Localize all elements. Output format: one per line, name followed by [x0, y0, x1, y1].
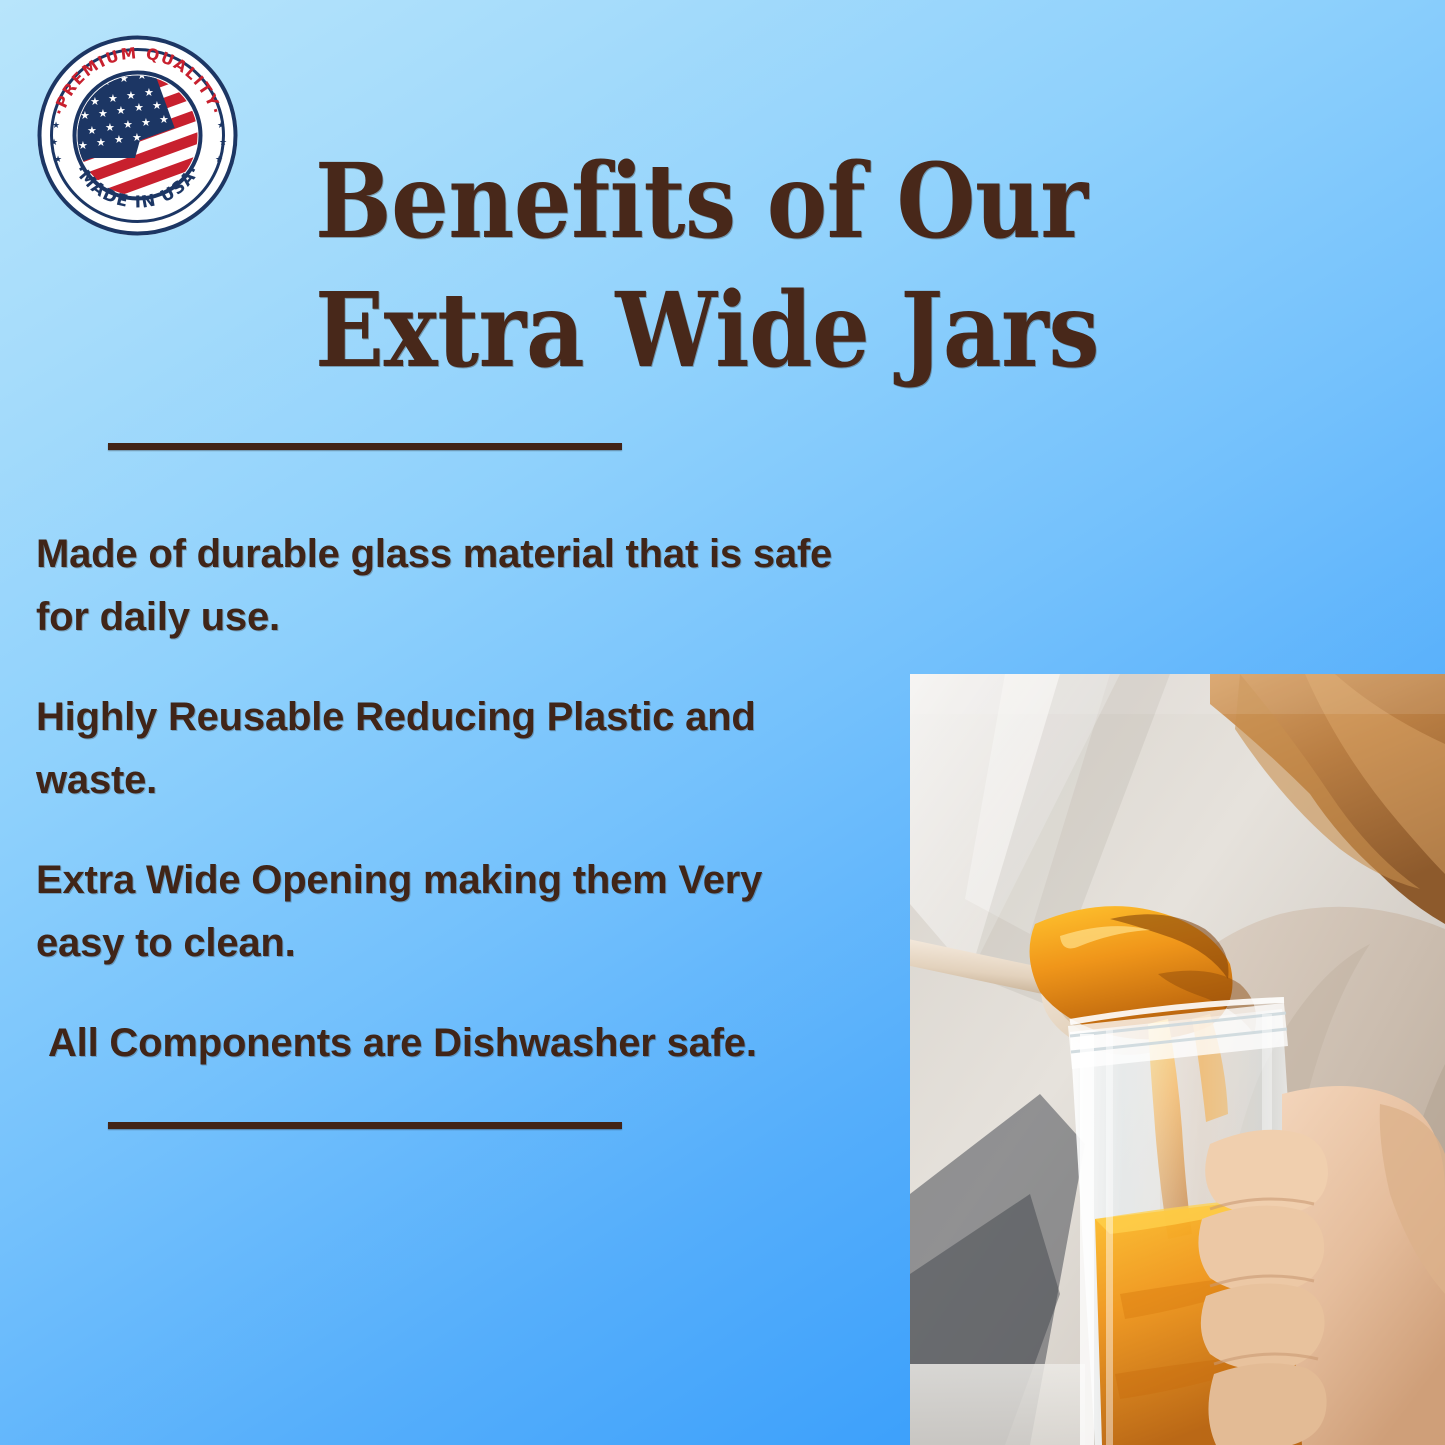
svg-text:★: ★ [54, 155, 62, 165]
svg-text:★: ★ [141, 116, 151, 129]
svg-text:★: ★ [98, 107, 108, 120]
svg-text:★: ★ [50, 138, 58, 148]
svg-text:★: ★ [215, 155, 223, 165]
divider-bottom [108, 1122, 622, 1129]
made-in-usa-badge: ★★★ ★★ ★★★ ★★ ★★★ ★★ ★★★ ★★ ★★★ ★ ·PREMI… [35, 33, 240, 238]
benefit-item-2: Highly Reusable Reducing Plastic and was… [36, 686, 916, 812]
divider-top [108, 443, 622, 450]
svg-text:★: ★ [78, 139, 88, 152]
svg-text:★: ★ [123, 118, 133, 131]
benefit-item-4: All Components are Dishwasher safe. [36, 1012, 916, 1075]
page-title: Benefits of Our Extra Wide Jars [315, 137, 1195, 395]
svg-text:★: ★ [114, 133, 124, 146]
lifestyle-photo [910, 674, 1445, 1445]
svg-text:★: ★ [162, 84, 172, 97]
benefit-item-1: Made of durable glass material that is s… [36, 523, 916, 649]
benefits-list: Made of durable glass material that is s… [36, 523, 916, 1075]
svg-text:★: ★ [144, 86, 154, 99]
svg-text:★: ★ [219, 138, 227, 148]
infographic-canvas: ★★★ ★★ ★★★ ★★ ★★★ ★★ ★★★ ★★ ★★★ ★ ·PREMI… [0, 0, 1445, 1445]
svg-text:★: ★ [217, 121, 225, 131]
svg-text:★: ★ [134, 101, 144, 114]
svg-text:★: ★ [116, 104, 126, 117]
svg-text:★: ★ [52, 121, 60, 131]
svg-text:★: ★ [152, 99, 162, 112]
benefit-item-3: Extra Wide Opening making them Very easy… [36, 849, 916, 975]
svg-text:★: ★ [96, 136, 106, 149]
svg-text:★: ★ [159, 113, 169, 126]
svg-text:★: ★ [132, 131, 142, 144]
